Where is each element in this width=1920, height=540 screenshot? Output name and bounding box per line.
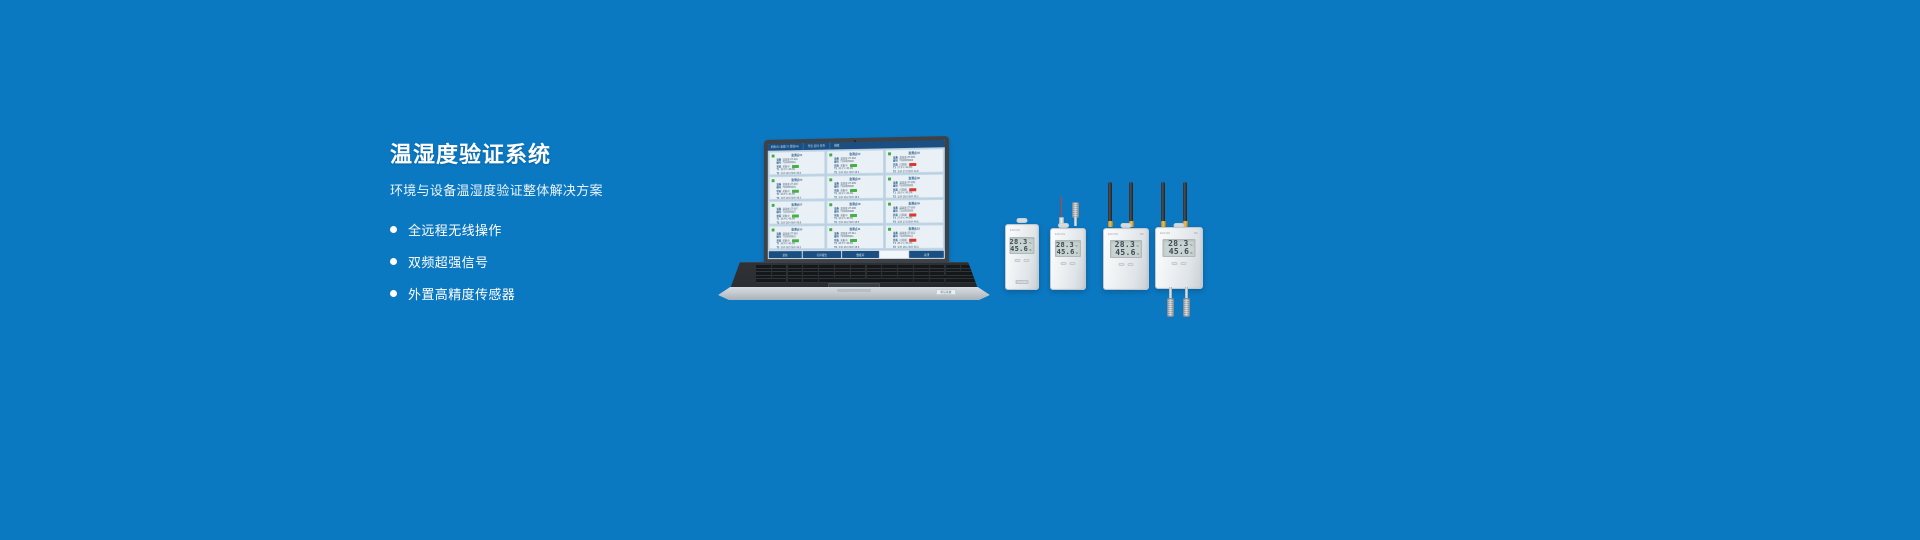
status-dot-icon [772, 204, 775, 207]
status-dot-icon [888, 228, 891, 231]
probe-sintered-filter [1183, 298, 1190, 317]
monitor-card-grid: 监测点01设备温湿度-ZT-001编号T202005001状态采集中T128.3… [768, 147, 945, 250]
key[interactable] [772, 272, 787, 275]
device-button-right[interactable] [1128, 263, 1134, 266]
key[interactable] [930, 265, 945, 268]
app-toolbar: 更新打印报告数据库关闭 [768, 250, 945, 259]
feature-label: 全远程无线操作 [408, 220, 502, 239]
antenna-left [1161, 182, 1165, 222]
status-dot-icon [772, 229, 775, 232]
status-dot-icon [772, 179, 775, 182]
key[interactable] [772, 265, 787, 268]
status-dot-icon [888, 152, 891, 155]
key[interactable] [835, 272, 850, 275]
device-button-right[interactable] [1024, 259, 1030, 262]
key[interactable] [946, 279, 976, 282]
device-brand-row: ENCON RS [1156, 232, 1202, 235]
toolbar-button-3[interactable] [880, 251, 909, 258]
keyboard-row [756, 276, 976, 279]
toolbar-button-0[interactable]: 更新 [769, 251, 802, 258]
key[interactable] [835, 269, 850, 272]
antenna-sma-connector-icon [1108, 221, 1113, 227]
toolbar-button-1[interactable]: 打印报告 [803, 251, 842, 258]
status-dot-icon [829, 178, 832, 181]
lcd-humidity-unit: % [1137, 254, 1139, 257]
monitor-card[interactable]: 监测点05设备温湿度-ZT-005编号T202005005状态采集中T128.2… [826, 175, 884, 200]
lcd-humidity-value: 45.6 [1010, 246, 1028, 253]
antenna-right [1129, 182, 1133, 222]
key[interactable] [772, 269, 787, 272]
key[interactable] [803, 279, 818, 282]
sensor-vent-grille [1016, 280, 1029, 284]
key[interactable] [914, 276, 929, 279]
key[interactable] [788, 269, 803, 272]
sticker-label: 验证系统 [936, 289, 956, 295]
status-dot-icon [888, 177, 891, 180]
hanger-icon [1017, 218, 1028, 223]
key[interactable] [930, 279, 945, 282]
page-subtitle: 环境与设备温湿度验证整体解决方案 [390, 182, 720, 200]
antenna-rod [1183, 182, 1187, 222]
device-button-right[interactable] [1181, 262, 1187, 265]
laptop-keyboard-deck [730, 262, 978, 289]
key[interactable] [898, 272, 913, 275]
key[interactable] [882, 269, 897, 272]
key[interactable] [930, 272, 945, 275]
probe-sintered-filter [1072, 202, 1079, 218]
key[interactable] [882, 265, 897, 268]
monitor-card[interactable]: 监测点06设备温湿度-ZT-006编号T202005006状态已离线T128.0… [885, 174, 944, 199]
monitor-card[interactable]: 监测点07设备温湿度-ZT-007编号T202005007状态采集中T128.4… [769, 200, 826, 224]
key[interactable] [803, 272, 818, 275]
monitor-card[interactable]: 监测点04设备温湿度-ZT-004编号T202005004状态采集中T128.6… [769, 175, 826, 200]
key[interactable] [961, 269, 976, 272]
device-buttons[interactable] [1172, 262, 1187, 265]
key[interactable] [930, 276, 976, 279]
page-title: 温湿度验证系统 [390, 140, 720, 170]
device-buttons[interactable] [1015, 259, 1030, 262]
bullet-dot-icon [390, 258, 397, 265]
key[interactable] [851, 265, 866, 268]
device-button-left[interactable] [1119, 263, 1125, 266]
feature-list: 全远程无线操作 双频超强信号 外置高精度传感器 [390, 216, 720, 306]
monitor-card-rows: 设备温湿度-ZT-011编号T202005011状态采集中T128.3℃ 45.… [829, 232, 881, 249]
key[interactable] [819, 265, 834, 268]
monitor-card[interactable]: 监测点01设备温湿度-ZT-001编号T202005001状态采集中T128.3… [769, 151, 826, 176]
device-wireless-logger-right: ENCON RS 28.3 ℃ 45.6 % [1155, 182, 1203, 322]
probe-cable-red [1061, 196, 1062, 218]
list-item: 全远程无线操作 [390, 216, 720, 242]
antenna-left [1108, 182, 1112, 222]
key[interactable] [867, 272, 882, 275]
monitor-card-rows: 设备温湿度-ZT-003编号T202005003状态已离线T127.9℃ 44.… [888, 155, 941, 173]
device-button-right[interactable] [1070, 262, 1076, 265]
key-space[interactable] [819, 279, 913, 282]
key[interactable] [788, 265, 803, 268]
key[interactable] [930, 269, 945, 272]
device-data-logger-probe: ENCON 28.3 ℃ 45.6 % [1050, 196, 1086, 290]
device-buttons[interactable] [1061, 262, 1076, 265]
laptop-base: 验证系统 [718, 262, 990, 300]
key[interactable] [914, 279, 929, 282]
feature-label: 双频超强信号 [408, 252, 488, 271]
copy-block: 温湿度验证系统 环境与设备温湿度验证整体解决方案 全远程无线操作 双频超强信号 … [390, 140, 720, 306]
monitor-card-rows: 设备温湿度-ZT-001编号T202005001状态采集中T128.3℃ 45.… [772, 158, 823, 176]
probe-sintered-filter [1167, 298, 1174, 317]
device-button-left[interactable] [1172, 262, 1178, 265]
monitor-card-rows: 设备温湿度-ZT-007编号T202005007状态采集中T128.4℃ 45.… [772, 207, 823, 224]
key[interactable] [803, 269, 818, 272]
key[interactable] [851, 272, 866, 275]
keyboard-row [756, 269, 976, 272]
laptop-screen: 系统(S) 设置(T) 帮助(H) 导出 定时 任务 视图 监测点01设备温湿度… [768, 140, 945, 259]
antenna-rod [1108, 182, 1112, 222]
device-buttons[interactable] [1119, 263, 1134, 266]
key[interactable] [898, 276, 913, 279]
device-brand: ENCON [1108, 233, 1118, 236]
monitor-card[interactable]: 监测点09设备温湿度-ZT-009编号T202005009状态已离线T127.8… [885, 199, 944, 224]
monitor-card[interactable]: 监测点10设备温湿度-ZT-010编号T202005010状态采集中T128.5… [769, 225, 826, 249]
monitor-card-rows: 设备温湿度-ZT-010编号T202005010状态采集中T128.5℃ 46.… [772, 232, 823, 249]
toolbar-button-2[interactable]: 数据库 [842, 251, 878, 258]
key[interactable] [788, 279, 803, 282]
key[interactable] [788, 272, 803, 275]
status-dot-icon [829, 153, 832, 156]
monitor-card-rows: 设备温湿度-ZT-005编号T202005005状态采集中T128.2℃ 45.… [829, 182, 881, 200]
lcd-humidity-line: 45.6 % [1113, 249, 1139, 257]
key[interactable] [914, 269, 929, 272]
antenna-rod [1161, 182, 1165, 222]
feature-label: 外置高精度传感器 [408, 284, 515, 303]
keyboard[interactable] [756, 265, 976, 282]
device-wireless-logger-left: ENCON RS 28.3 ℃ 45.6 % [1103, 182, 1149, 290]
device-brand: ENCON [1160, 232, 1170, 235]
device-body: ENCON 28.3 ℃ 45.6 % [1005, 224, 1039, 290]
monitor-card-rows: 设备温湿度-ZT-012编号T202005012状态已离线T128.1℃ 45.… [888, 232, 941, 249]
device-brand: ENCON [1055, 233, 1065, 236]
key[interactable] [788, 276, 803, 279]
laptop-illustration: 系统(S) 设置(T) 帮助(H) 导出 定时 任务 视图 监测点01设备温湿度… [718, 138, 990, 300]
device-button-left[interactable] [1015, 259, 1021, 262]
promo-banner: 温湿度验证系统 环境与设备温湿度验证整体解决方案 全远程无线操作 双频超强信号 … [0, 0, 1920, 540]
status-dot-icon [772, 155, 775, 158]
key[interactable] [819, 276, 834, 279]
key[interactable] [756, 279, 786, 282]
keyboard-row [756, 279, 976, 282]
status-dot-icon [829, 203, 832, 206]
key[interactable] [946, 272, 977, 275]
monitor-card-rows: 设备温湿度-ZT-002编号T202005002状态采集中T128.1℃ 45.… [829, 157, 881, 175]
key[interactable] [756, 265, 771, 268]
lcd-humidity-line: 45.6 % [1058, 249, 1078, 256]
key[interactable] [835, 276, 850, 279]
list-item: 双频超强信号 [390, 248, 720, 274]
device-data-logger-compact: ENCON 28.3 ℃ 45.6 % [1005, 218, 1039, 290]
key[interactable] [946, 265, 961, 268]
antenna-right [1183, 182, 1187, 222]
key[interactable] [898, 269, 913, 272]
device-brand-row: ENCON [1051, 233, 1085, 236]
key[interactable] [772, 276, 787, 279]
key[interactable] [867, 265, 882, 268]
lcd-humidity-line: 45.6 % [1166, 248, 1193, 256]
lcd-display: 28.3 ℃ 45.6 % [1110, 240, 1142, 258]
key[interactable] [803, 265, 818, 268]
monitor-card-rows: 设备温湿度-ZT-009编号T202005009状态已离线T127.8℃ 44.… [888, 206, 941, 224]
key[interactable] [882, 276, 897, 279]
key[interactable] [851, 269, 866, 272]
device-button-left[interactable] [1061, 262, 1067, 265]
key[interactable] [756, 269, 771, 272]
keyboard-row [756, 272, 976, 275]
key[interactable] [819, 272, 834, 275]
lcd-humidity-unit: % [1029, 250, 1031, 253]
device-brand-row: ENCON [1006, 229, 1038, 232]
keyboard-row [756, 265, 976, 268]
key[interactable] [914, 272, 929, 275]
lcd-humidity-unit: % [1190, 253, 1192, 256]
key[interactable] [867, 269, 882, 272]
monitor-card[interactable]: 监测点11设备温湿度-ZT-011编号T202005011状态采集中T128.3… [826, 225, 884, 249]
lcd-humidity-value: 45.6 [1115, 249, 1135, 257]
key[interactable] [898, 265, 913, 268]
key[interactable] [867, 276, 882, 279]
laptop-front-edge: 验证系统 [718, 287, 990, 300]
device-body: ENCON RS 28.3 ℃ 45.6 % [1155, 227, 1203, 289]
lcd-humidity-line: 45.6 % [1013, 246, 1032, 253]
status-dot-icon [888, 203, 891, 206]
key[interactable] [961, 265, 976, 268]
monitor-card-rows: 设备温湿度-ZT-006编号T202005006状态已离线T128.0℃ 45.… [888, 181, 941, 199]
lcd-display: 28.3 ℃ 45.6 % [1010, 237, 1035, 254]
key[interactable] [882, 272, 897, 275]
monitor-card-rows: 设备温湿度-ZT-008编号T202005008状态采集中T128.2℃ 45.… [829, 207, 881, 224]
key[interactable] [756, 276, 771, 279]
laptop-lid: 系统(S) 设置(T) 帮助(H) 导出 定时 任务 视图 监测点01设备温湿度… [764, 136, 949, 266]
lcd-display: 28.3 ℃ 45.6 % [1055, 240, 1081, 257]
toolbar-button-4[interactable]: 关闭 [909, 251, 943, 258]
lcd-humidity-value: 45.6 [1169, 248, 1189, 256]
bullet-dot-icon [390, 226, 397, 233]
device-brand-row: ENCON RS [1104, 233, 1148, 236]
monitor-card[interactable]: 监测点02设备温湿度-ZT-002编号T202005002状态采集中T128.1… [826, 149, 884, 174]
device-model: RS [1140, 233, 1144, 236]
key[interactable] [819, 269, 834, 272]
monitor-card-rows: 设备温湿度-ZT-004编号T202005004状态采集中T128.6℃ 46.… [772, 182, 823, 200]
antenna-rod [1129, 182, 1133, 222]
lid-latch-notch [837, 289, 871, 292]
status-dot-icon [829, 228, 832, 231]
bullet-dot-icon [390, 290, 397, 297]
monitor-card[interactable]: 监测点08设备温湿度-ZT-008编号T202005008状态采集中T128.2… [826, 200, 884, 225]
monitor-card[interactable]: 监测点12设备温湿度-ZT-012编号T202005012状态已离线T128.1… [885, 224, 944, 249]
key[interactable] [851, 276, 866, 279]
key[interactable] [835, 265, 850, 268]
lcd-humidity-unit: % [1076, 253, 1078, 256]
key[interactable] [803, 276, 818, 279]
monitor-card[interactable]: 监测点03设备温湿度-ZT-003编号T202005003状态已离线T127.9… [885, 148, 944, 173]
device-body: ENCON 28.3 ℃ 45.6 % [1050, 228, 1086, 290]
device-body: ENCON RS 28.3 ℃ 45.6 % [1103, 228, 1149, 290]
lcd-humidity-value: 45.6 [1057, 249, 1075, 256]
key[interactable] [946, 269, 961, 272]
key[interactable] [914, 265, 929, 268]
lcd-display: 28.3 ℃ 45.6 % [1163, 239, 1196, 257]
device-model: RS [1194, 232, 1198, 235]
list-item: 外置高精度传感器 [390, 280, 720, 306]
key[interactable] [756, 272, 771, 275]
device-brand: ENCON [1010, 229, 1020, 232]
probe-stem [1074, 217, 1077, 226]
